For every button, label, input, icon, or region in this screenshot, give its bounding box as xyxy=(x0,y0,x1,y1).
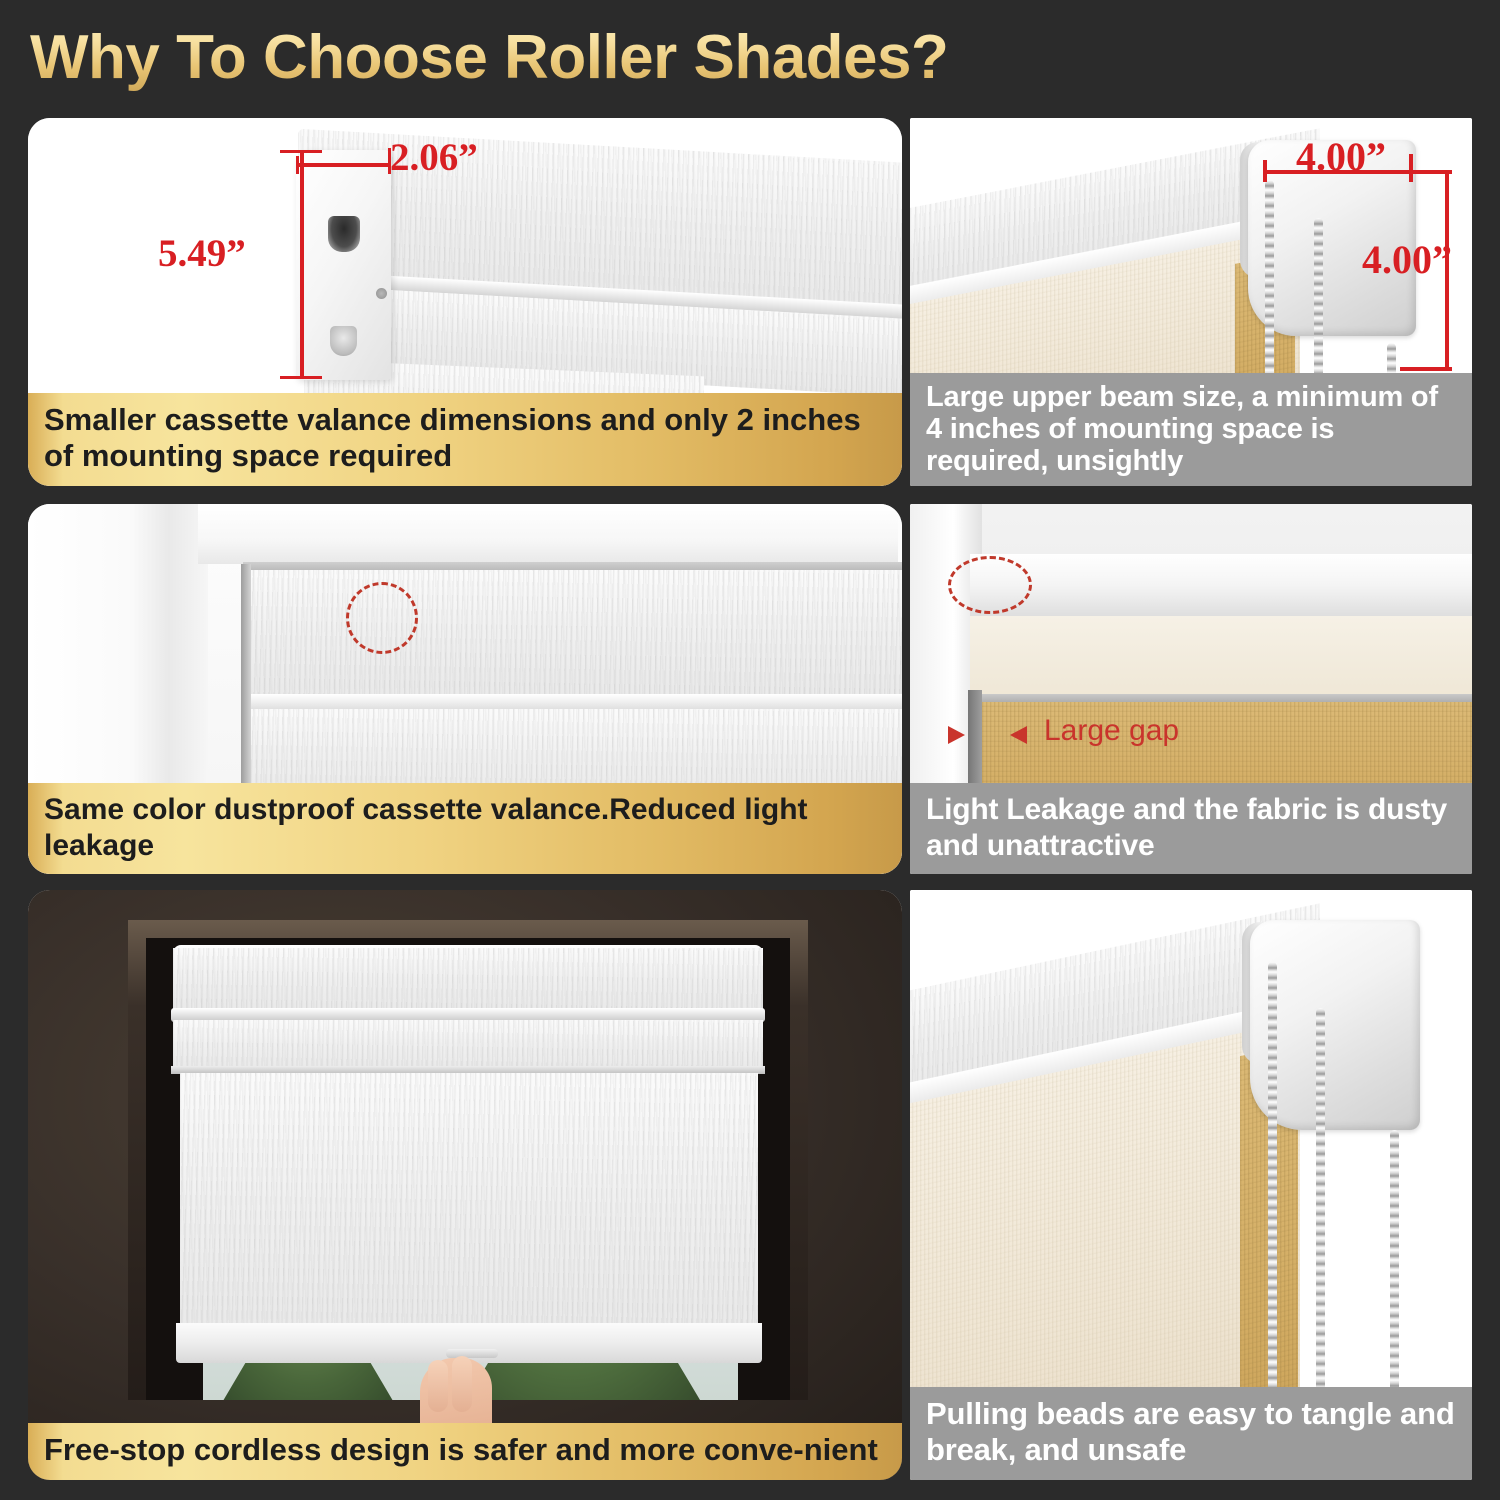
leak-highlight-circle xyxy=(948,556,1032,614)
panel-theirs-pulling-beads: Pulling beads are easy to tangle and bre… xyxy=(910,890,1472,1480)
caption-ours-cassette-dimensions: Smaller cassette valance dimensions and … xyxy=(28,393,902,486)
caption-theirs-pulling-beads: Pulling beads are easy to tangle and bre… xyxy=(910,1387,1472,1480)
panel-theirs-large-upper-beam: 4.00” 4.00” Large upper beam size, a min… xyxy=(910,118,1472,486)
caption-theirs-light-leakage: Light Leakage and the fabric is dusty an… xyxy=(910,783,1472,874)
dimension-line-height xyxy=(300,150,304,378)
beam-dimension-tick-right xyxy=(1409,154,1413,182)
caption-theirs-large-upper-beam: Large upper beam size, a minimum of 4 in… xyxy=(910,373,1472,486)
dimension-tick-height-bottom xyxy=(280,376,322,379)
hand-finger-1 xyxy=(428,1360,448,1412)
caption-ours-cordless-design: Free-stop cordless design is safer and m… xyxy=(28,1423,902,1480)
beam-dimension-tick-left xyxy=(1263,160,1267,182)
panel-ours-cassette-dimensions: 2.06” 5.49” Smaller cassette valance dim… xyxy=(28,118,902,486)
valance-slat-divider-1 xyxy=(243,694,902,710)
beam-dimension-tick-top xyxy=(1410,170,1452,174)
valance-screw-icon xyxy=(376,288,387,299)
panel-theirs-light-leakage: Large gap Light Leakage and the fabric i… xyxy=(910,504,1472,874)
shade-fabric-main xyxy=(180,1073,758,1328)
gap-label-large: Large gap xyxy=(1044,714,1179,748)
beam-dimension-label-height: 4.00” xyxy=(1362,236,1452,283)
panel-ours-cordless-design: Free-stop cordless design is safer and m… xyxy=(28,890,902,1480)
cassette-front-flap xyxy=(173,1020,763,1070)
valance-slat-1 xyxy=(243,570,902,698)
beam-dimension-label-width: 4.00” xyxy=(1296,133,1386,180)
beads-chain-1 xyxy=(1268,962,1277,1457)
hand-finger-2 xyxy=(452,1356,472,1412)
leak-roller-tube xyxy=(970,554,1472,624)
dimension-tick-height-top xyxy=(280,150,322,153)
window-frame-top xyxy=(198,504,898,564)
cassette-head-fabric xyxy=(173,948,763,1010)
valance-bracket-socket xyxy=(328,216,360,252)
valance-screw-boss xyxy=(330,326,357,356)
panel-ours-dustproof-valance: smaller gap Same color dustproof cassett… xyxy=(28,504,902,874)
photo-cordless-window xyxy=(28,890,902,1480)
caption-ours-dustproof-valance: Same color dustproof cassette valance.Re… xyxy=(28,783,902,874)
comparison-grid: 2.06” 5.49” Smaller cassette valance dim… xyxy=(0,0,1500,1500)
dimension-line-width xyxy=(298,163,390,167)
highlight-circle-gap xyxy=(346,582,418,654)
leak-gap-arrow-left xyxy=(948,726,965,744)
dimension-label-height: 5.49” xyxy=(158,231,246,276)
leak-fabric-top xyxy=(970,616,1472,698)
beam-dimension-tick-bottom xyxy=(1400,367,1452,371)
shade-pull-tab xyxy=(446,1349,498,1358)
leak-gap-arrow-right xyxy=(1010,726,1027,744)
dimension-tick-width-left xyxy=(296,156,299,174)
dimension-label-width: 2.06” xyxy=(390,135,478,180)
